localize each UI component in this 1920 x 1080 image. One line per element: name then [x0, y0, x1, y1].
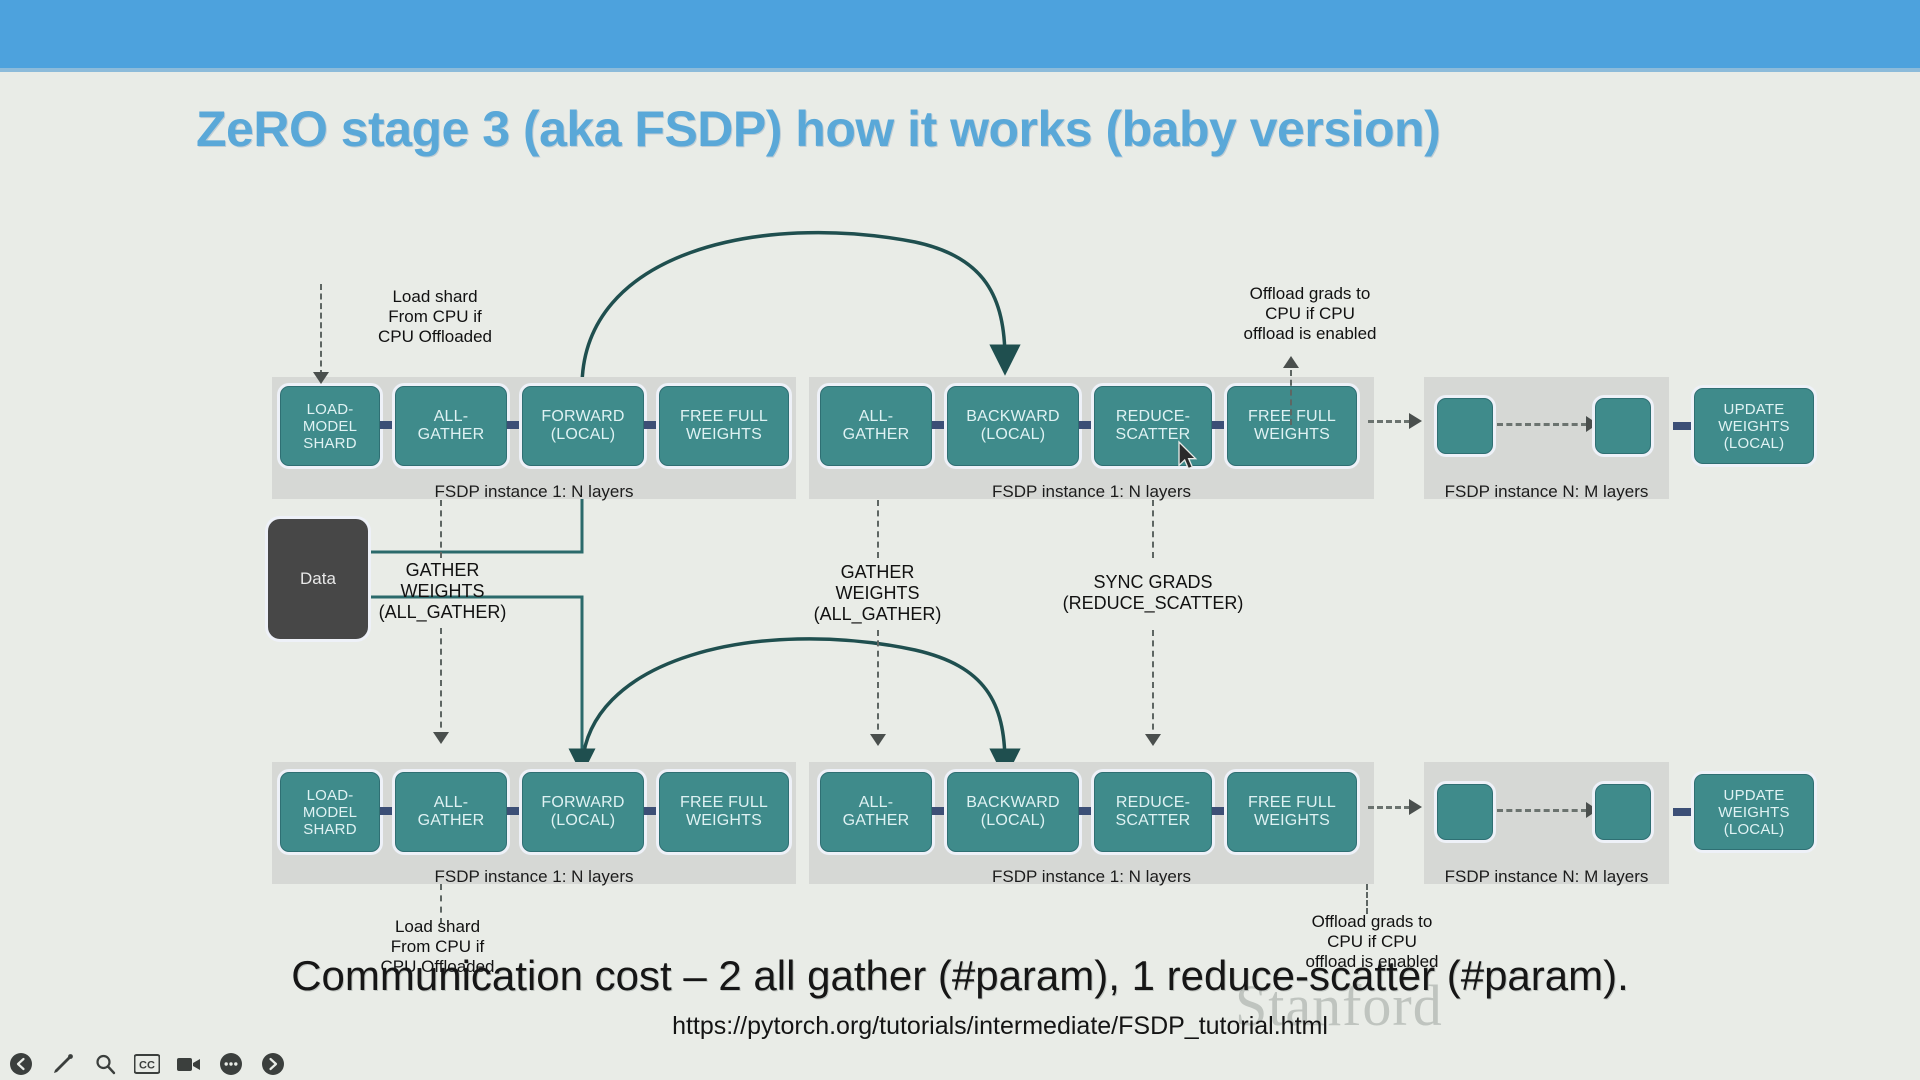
search-icon[interactable]: [92, 1051, 118, 1077]
node-all-gather-backward-bottom[interactable]: ALL- GATHER: [820, 772, 932, 852]
slide-canvas: ZeRO stage 3 (aka FSDP) how it works (ba…: [0, 72, 1920, 1032]
dashed-link-to-instance-n-bottom: [1368, 806, 1410, 809]
node-load-model-shard-top[interactable]: LOAD- MODEL SHARD: [280, 386, 380, 466]
pen-icon[interactable]: [50, 1051, 76, 1077]
source-url-text: https://pytorch.org/tutorials/intermedia…: [0, 1012, 1920, 1041]
video-icon[interactable]: [176, 1051, 202, 1077]
node-instance-n-first-bottom[interactable]: [1437, 784, 1493, 840]
node-free-full-weights-bottom[interactable]: FREE FULL WEIGHTS: [659, 772, 789, 852]
node-all-gather-backward-top[interactable]: ALL- GATHER: [820, 386, 932, 466]
dashed-gather-weights-line-upper-1: [440, 500, 442, 558]
node-all-gather-top[interactable]: ALL- GATHER: [395, 386, 507, 466]
node-update-weights-top[interactable]: UPDATE WEIGHTS (LOCAL): [1694, 388, 1814, 464]
node-backward-local-top[interactable]: BACKWARD (LOCAL): [947, 386, 1079, 466]
node-all-gather-bottom[interactable]: ALL- GATHER: [395, 772, 507, 852]
node-reduce-scatter-bottom[interactable]: REDUCE- SCATTER: [1094, 772, 1212, 852]
fsdp-forward-group-label-bottom: FSDP instance 1: N layers: [272, 867, 796, 887]
dashed-link-arrowhead-bottom: [1409, 799, 1422, 815]
note-load-shard-top: Load shard From CPU if CPU Offloaded: [340, 287, 530, 347]
node-free-full-weights-backward-bottom[interactable]: FREE FULL WEIGHTS: [1227, 772, 1357, 852]
page-title: ZeRO stage 3 (aka FSDP) how it works (ba…: [196, 100, 1440, 158]
node-free-full-weights-top[interactable]: FREE FULL WEIGHTS: [659, 386, 789, 466]
label-gather-weights-1: GATHER WEIGHTS (ALL_GATHER): [370, 560, 515, 623]
fsdp-backward-group-label: FSDP instance 1: N layers: [809, 482, 1374, 502]
node-forward-local-bottom[interactable]: FORWARD (LOCAL): [522, 772, 644, 852]
fsdp-forward-group-label: FSDP instance 1: N layers: [272, 482, 796, 502]
app-top-bar: [0, 0, 1920, 68]
note-offload-grads-top: Offload grads to CPU if CPU offload is e…: [1200, 284, 1420, 344]
fsdp-instance-n-label-bottom: FSDP instance N: M layers: [1424, 867, 1669, 887]
back-icon[interactable]: [8, 1051, 34, 1077]
dashed-gather-weights-arrowhead-2: [870, 734, 886, 746]
node-instance-n-first-top[interactable]: [1437, 398, 1493, 454]
dashed-sync-grads-line-upper: [1152, 500, 1154, 558]
dashed-gather-weights-line-lower-1: [440, 628, 442, 738]
dashed-link-to-instance-n-top: [1368, 420, 1410, 423]
node-update-weights-bottom[interactable]: UPDATE WEIGHTS (LOCAL): [1694, 774, 1814, 850]
dashed-offload-line-bottom: [1366, 884, 1368, 914]
fsdp-backward-group-label-bottom: FSDP instance 1: N layers: [809, 867, 1374, 887]
forward-icon[interactable]: [260, 1051, 286, 1077]
closed-caption-icon[interactable]: CC: [134, 1051, 160, 1077]
dashed-load-shard-arrowhead-top: [313, 372, 329, 384]
player-toolbar: CC: [0, 1048, 1920, 1080]
svg-text:CC: CC: [139, 1060, 155, 1072]
node-backward-local-bottom[interactable]: BACKWARD (LOCAL): [947, 772, 1079, 852]
dashed-offload-arrowhead-top: [1283, 356, 1299, 368]
dashed-offload-line-top: [1290, 370, 1292, 425]
dashed-link-inner-top: [1497, 423, 1587, 426]
node-instance-n-second-top[interactable]: [1595, 398, 1651, 454]
fsdp-instance-n-label-top: FSDP instance N: M layers: [1424, 482, 1669, 502]
dashed-link-arrowhead-top: [1409, 413, 1422, 429]
slide-caption: Communication cost – 2 all gather (#para…: [0, 952, 1920, 1000]
label-gather-weights-2: GATHER WEIGHTS (ALL_GATHER): [805, 562, 950, 625]
node-free-full-weights-backward-top[interactable]: FREE FULL WEIGHTS: [1227, 386, 1357, 466]
dashed-gather-weights-line-lower-2: [877, 630, 879, 740]
node-load-model-shard-bottom[interactable]: LOAD- MODEL SHARD: [280, 772, 380, 852]
dashed-sync-grads-line-lower: [1152, 630, 1154, 740]
mouse-cursor: [1178, 442, 1200, 472]
node-forward-local-top[interactable]: FORWARD (LOCAL): [522, 386, 644, 466]
node-data[interactable]: Data: [268, 519, 368, 639]
dashed-gather-weights-arrowhead-1: [433, 732, 449, 744]
more-options-icon[interactable]: [218, 1051, 244, 1077]
dashed-link-inner-bottom: [1497, 809, 1587, 812]
dashed-load-shard-line-top: [320, 284, 322, 376]
dashed-gather-weights-line-upper-2: [877, 500, 879, 558]
label-sync-grads: SYNC GRADS (REDUCE_SCATTER): [1062, 572, 1244, 614]
node-instance-n-second-bottom[interactable]: [1595, 784, 1651, 840]
dashed-sync-grads-arrowhead: [1145, 734, 1161, 746]
